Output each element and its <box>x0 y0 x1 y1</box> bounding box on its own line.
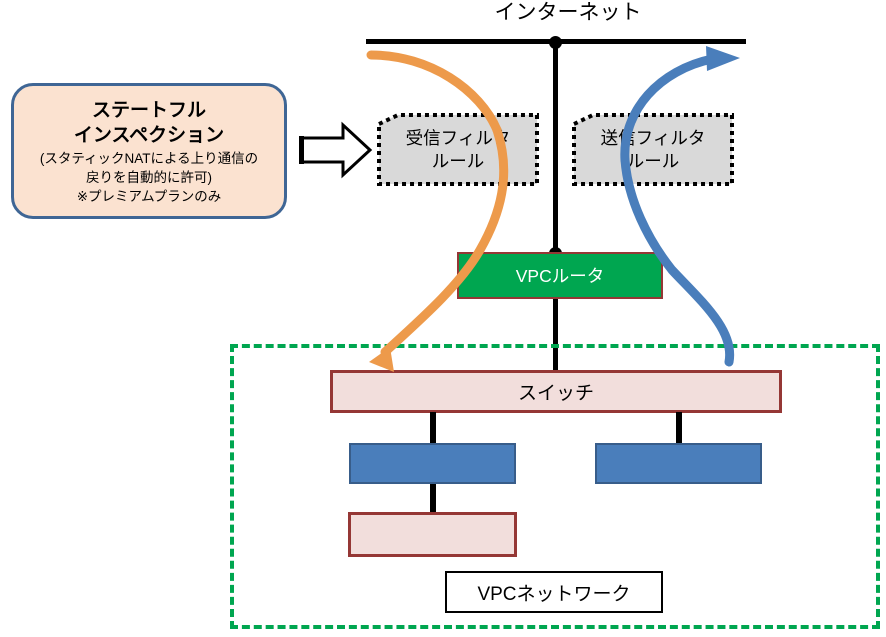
switch-to-right-host-link <box>676 412 682 445</box>
switch-node: スイッチ <box>330 370 782 413</box>
stateful-note-line1: (スタティックNATによる上り通信の <box>40 150 258 167</box>
vpc-router-node: VPCルータ <box>457 252 663 299</box>
vpc-network-label-text: VPCネットワーク <box>477 579 630 606</box>
outbound-filter-label-line1: 送信フィルタ <box>601 127 706 150</box>
host-left-pink <box>348 512 517 557</box>
vpc-router-label: VPCルータ <box>516 263 604 288</box>
switch-label: スイッチ <box>518 378 594 405</box>
host-left-blue <box>349 443 516 484</box>
internet-label: インターネット <box>478 0 658 26</box>
outbound-filter-label-line2: ルール <box>627 150 680 173</box>
inbound-traffic-flow <box>369 55 504 372</box>
inbound-filter-label-line2: ルール <box>432 150 485 173</box>
switch-to-left-host-link <box>430 412 436 445</box>
inbound-filter-label-line1: 受信フィルタ <box>406 127 511 150</box>
stateful-title-line2: インスペクション <box>74 123 224 148</box>
internet-to-router-link <box>553 44 558 256</box>
diagram-canvas: インターネット ステートフル インスペクション (スタティックNATによる上り通… <box>0 0 886 637</box>
left-host-to-pink-host-link <box>430 483 436 514</box>
vpc-network-label: VPCネットワーク <box>445 571 663 613</box>
stateful-note-line2: 戻りを自動的に許可) <box>86 169 212 186</box>
outbound-traffic-flow <box>625 46 740 362</box>
stateful-inspection-callout: ステートフル インスペクション (スタティックNATによる上り通信の 戻りを自動… <box>11 83 287 219</box>
outbound-filter-rule-box: 送信フィルタ ルール <box>571 112 735 187</box>
stateful-title-line1: ステートフル <box>92 98 206 123</box>
inbound-filter-rule-box: 受信フィルタ ルール <box>376 112 540 187</box>
stateful-note-line3: ※プレミアムプランのみ <box>77 188 222 205</box>
host-right-blue <box>595 443 762 484</box>
block-arrow-icon <box>299 121 373 179</box>
